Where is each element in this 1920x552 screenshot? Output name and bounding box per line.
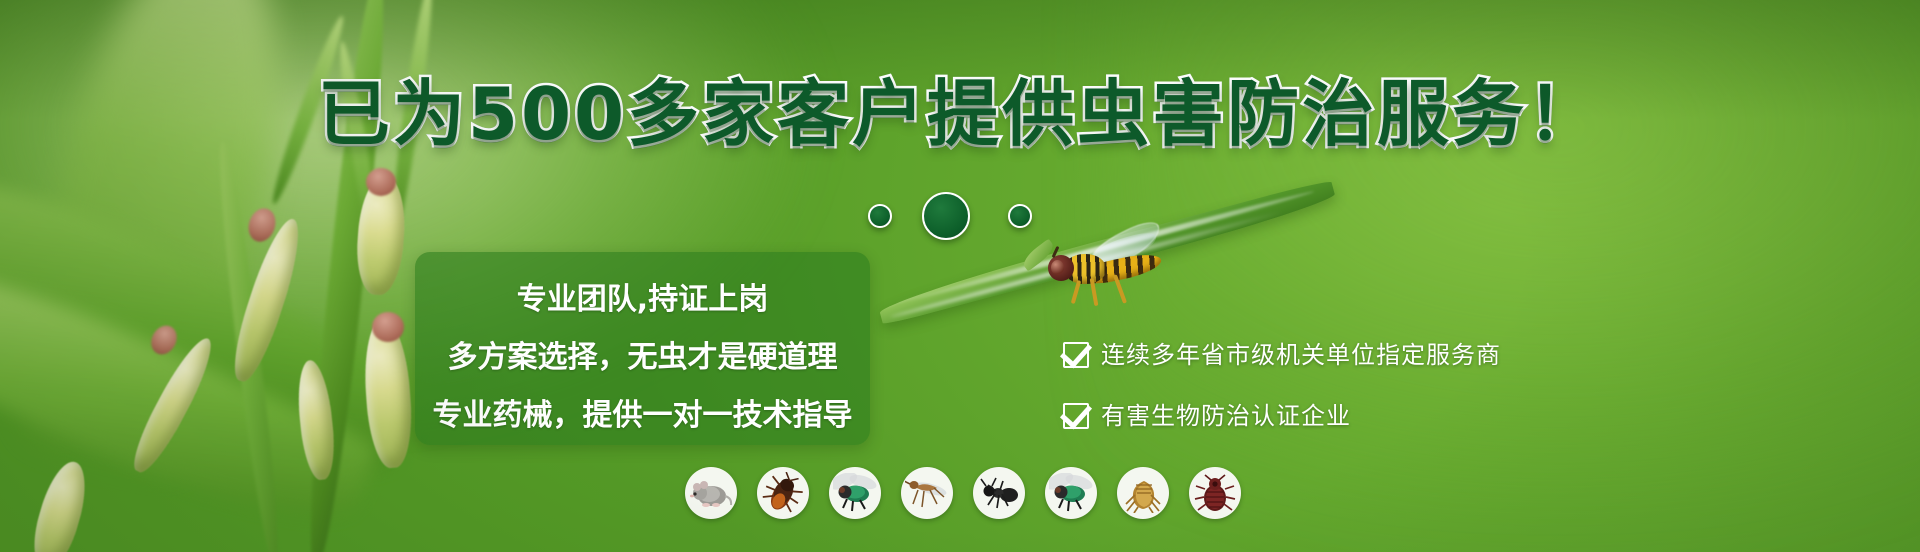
hoverfly-image: [1040, 238, 1172, 308]
credential-list: 连续多年省市级机关单位指定服务商 有害生物防治认证企业: [1063, 335, 1501, 457]
credential-label-1: 连续多年省市级机关单位指定服务商: [1101, 335, 1501, 370]
checkbox-check-icon: [1063, 401, 1089, 427]
plant-bud: [26, 457, 95, 552]
fly-leg: [1071, 280, 1081, 304]
credential-item-1: 连续多年省市级机关单位指定服务商: [1063, 335, 1501, 370]
slogan-line-3: 专业药械，提供一对一技术指导: [415, 390, 870, 434]
cockroach-icon[interactable]: [757, 467, 809, 519]
banner-headline-text: 已为500多家客户提供虫害防治服务！: [318, 72, 1602, 156]
dot-small-right-icon: [1008, 204, 1032, 228]
fly-icon[interactable]: [829, 467, 881, 519]
mosquito-icon[interactable]: [901, 467, 953, 519]
slogan-line-2: 多方案选择，无虫才是硬道理: [415, 332, 870, 376]
fly-eye: [1051, 260, 1064, 275]
dot-large-icon: [922, 192, 970, 240]
ant-icon[interactable]: [973, 467, 1025, 519]
dot-small-left-icon: [868, 204, 892, 228]
fly-head: [1048, 255, 1074, 281]
pest-icon-row: [685, 467, 1241, 519]
mouse-icon[interactable]: [685, 467, 737, 519]
promo-banner: 已为500多家客户提供虫害防治服务！ 专业团队,持证上岗 多方案选择，无虫才是硬…: [0, 0, 1920, 552]
credential-item-2: 有害生物防治认证企业: [1063, 396, 1501, 431]
plant-bud-tip: [372, 312, 404, 342]
plant-bud-tip: [366, 168, 396, 196]
bedbug-icon[interactable]: [1189, 467, 1241, 519]
slogan-line-1: 专业团队,持证上岗: [415, 274, 870, 318]
flea-icon[interactable]: [1117, 467, 1169, 519]
decorative-dots: [860, 192, 1060, 236]
credential-label-2: 有害生物防治认证企业: [1101, 396, 1351, 431]
banner-headline: 已为500多家客户提供虫害防治服务！: [0, 78, 1920, 150]
fly-icon-2[interactable]: [1045, 467, 1097, 519]
checkbox-check-icon: [1063, 340, 1089, 366]
slogan-panel: 专业团队,持证上岗 多方案选择，无虫才是硬道理 专业药械，提供一对一技术指导: [415, 252, 870, 445]
